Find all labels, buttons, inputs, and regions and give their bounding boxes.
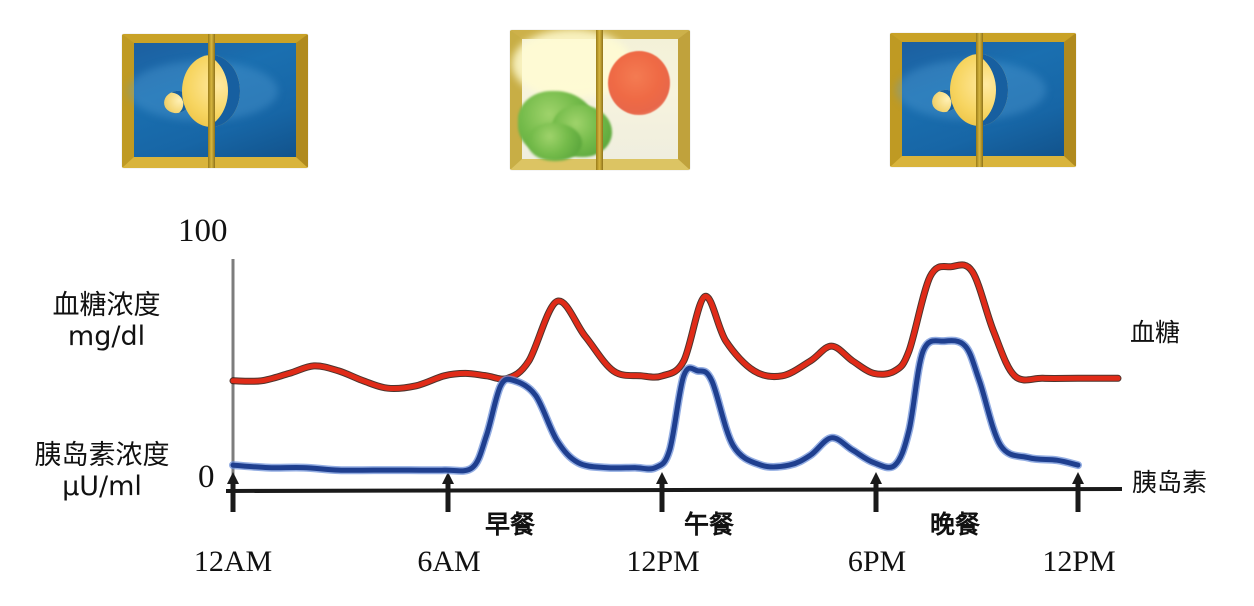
- meal-label-breakfast: 早餐: [485, 505, 535, 541]
- x-tick-label-0: 12AM: [168, 545, 298, 579]
- x-tick-label-1: 6AM: [390, 545, 508, 579]
- y-axis-insulin-label: 胰岛素浓度 µU/ml: [2, 440, 202, 503]
- y-axis-insulin-title: 胰岛素浓度: [35, 440, 170, 470]
- y-axis-glucose-unit: mg/dl: [14, 321, 199, 352]
- figure-root: 100 0 血糖浓度 mg/dl 胰岛素浓度 µU/ml 血糖 胰岛素 早餐 午…: [0, 0, 1254, 606]
- y-axis-glucose-label: 血糖浓度 mg/dl: [14, 290, 199, 353]
- meal-label-lunch: 午餐: [684, 505, 734, 541]
- y-axis-glucose-title: 血糖浓度: [53, 290, 161, 320]
- insulin-curve: [233, 341, 1078, 471]
- glucose-curve: [233, 265, 1118, 389]
- legend-label-insulin: 胰岛素: [1132, 463, 1207, 499]
- insulin-curve-shadow: [233, 341, 1078, 471]
- x-axis: [226, 489, 1122, 491]
- x-tick-label-3: 6PM: [818, 545, 936, 579]
- y-axis-insulin-unit: µU/ml: [2, 471, 202, 502]
- legend-label-glucose: 血糖: [1130, 313, 1180, 349]
- meal-label-dinner: 晚餐: [930, 505, 980, 541]
- x-tick-label-4: 12PM: [1014, 545, 1144, 579]
- y-axis-max-label: 100: [178, 215, 228, 248]
- x-tick-label-2: 12PM: [598, 545, 728, 579]
